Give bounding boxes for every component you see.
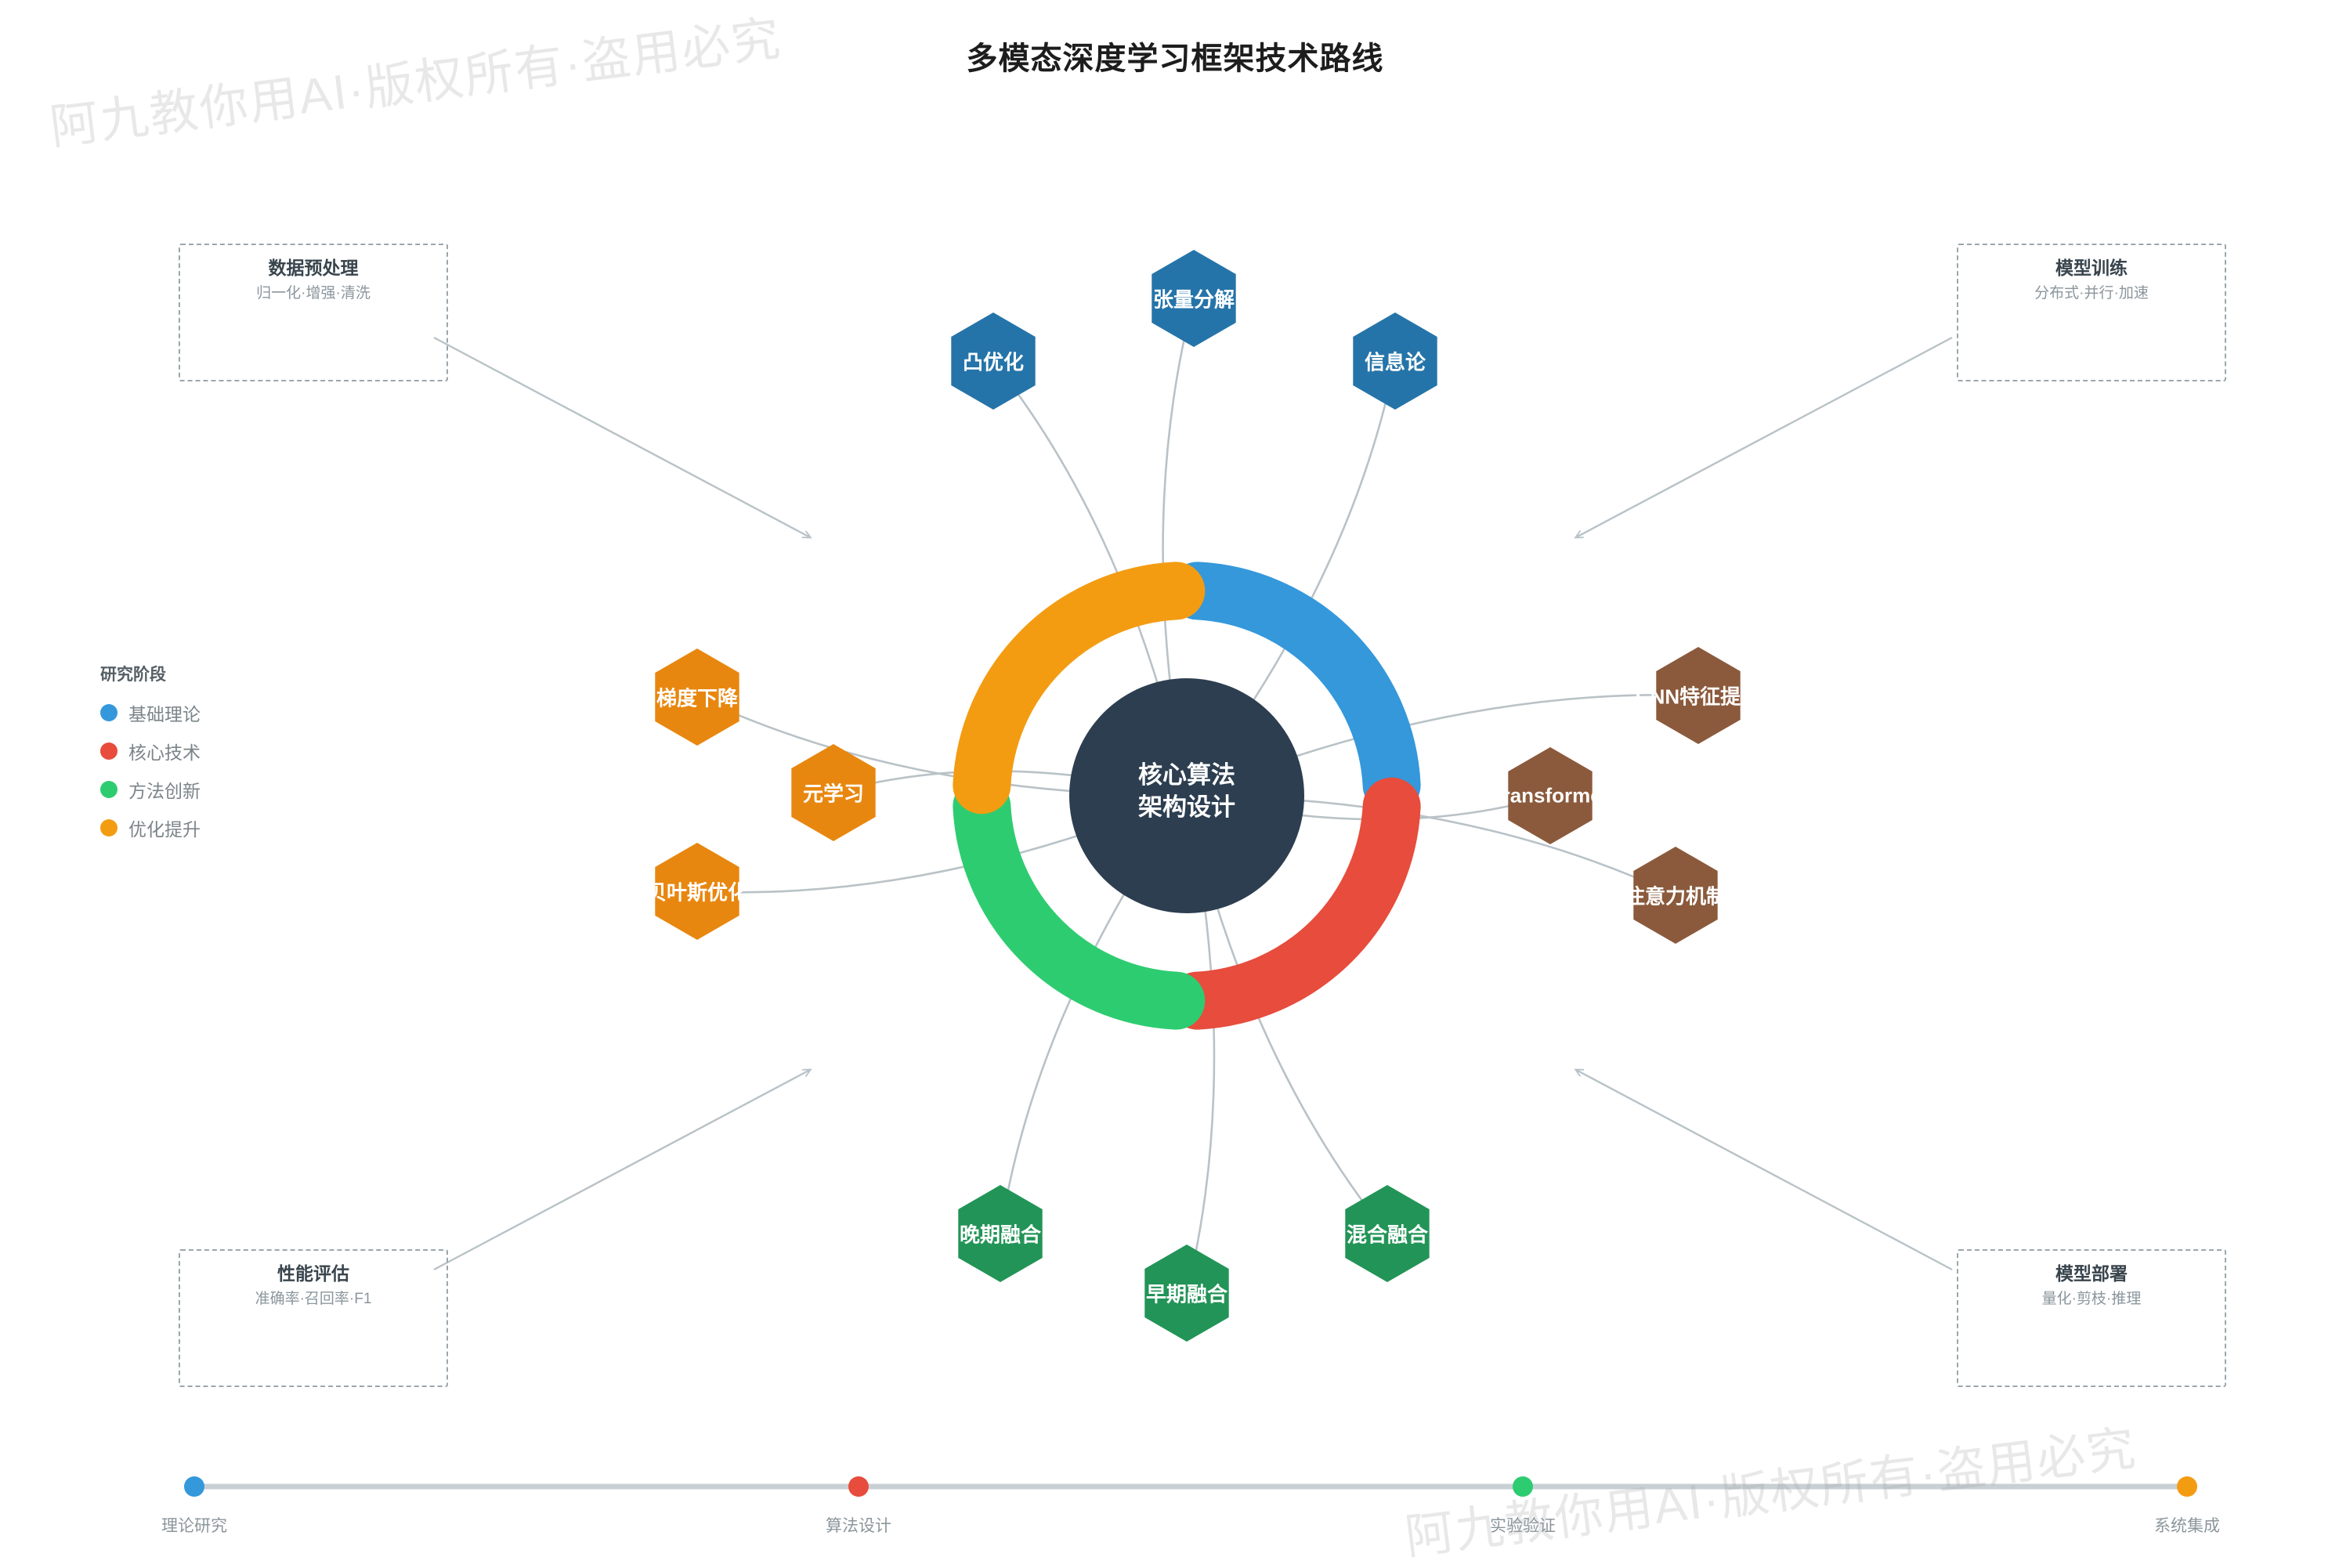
- legend-color-dot: [100, 704, 117, 721]
- legend-item[interactable]: 方法创新: [100, 776, 201, 803]
- timeline-milestone-dot[interactable]: [1513, 1476, 1533, 1497]
- timeline-milestone-dot[interactable]: [848, 1476, 869, 1497]
- legend-color-dot: [100, 819, 117, 836]
- annotation-arrow: [434, 1070, 810, 1270]
- timeline-milestone-dot[interactable]: [2177, 1476, 2197, 1497]
- annotation-subtitle: 量化·剪枝·推理: [1966, 1289, 2217, 1310]
- legend-color-dot: [100, 781, 117, 798]
- node-hexagon[interactable]: [1144, 1245, 1228, 1342]
- timeline-milestone-label: 算法设计: [826, 1513, 891, 1537]
- page-title: 多模态深度学习框架技术路线: [0, 33, 2350, 78]
- annotation-title: 模型训练: [1966, 256, 2217, 280]
- annotation-subtitle: 准确率·召回率·F1: [188, 1289, 439, 1310]
- timeline-milestone-label: 实验验证: [1490, 1513, 1556, 1537]
- node-hexagon[interactable]: [791, 744, 875, 841]
- node-hexagon[interactable]: [958, 1185, 1042, 1282]
- legend-item[interactable]: 基础理论: [100, 699, 201, 726]
- legend-item-label: 核心技术: [128, 738, 201, 764]
- legend-color-dot: [100, 742, 117, 760]
- legend: 研究阶段 基础理论核心技术方法创新优化提升: [100, 662, 201, 853]
- node-hexagon[interactable]: [1633, 847, 1717, 944]
- timeline-layer: [184, 1476, 2197, 1497]
- annotation-title: 性能评估: [188, 1262, 439, 1286]
- annotation-arrow: [1576, 1070, 1952, 1270]
- node-hexagon[interactable]: [1508, 747, 1592, 844]
- annotation-title: 模型部署: [1966, 1262, 2217, 1286]
- node-hexagon[interactable]: [1345, 1185, 1429, 1282]
- annotation-box[interactable]: 数据预处理归一化·增强·清洗: [179, 244, 448, 381]
- timeline-milestone-dot[interactable]: [184, 1476, 204, 1497]
- node-hexagon[interactable]: [655, 649, 739, 746]
- annotation-box[interactable]: 性能评估准确率·召回率·F1: [179, 1249, 448, 1387]
- annotation-subtitle: 分布式·并行·加速: [1966, 284, 2217, 305]
- node-hexagon[interactable]: [1656, 647, 1740, 744]
- annotation-arrow: [434, 338, 810, 537]
- legend-title: 研究阶段: [100, 662, 201, 685]
- diagram-canvas: 阿九教你用AI·版权所有·盗用必究 多模态深度学习框架技术路线 核心算法 架构设…: [0, 0, 2350, 1566]
- node-hexagon[interactable]: [1353, 313, 1437, 410]
- legend-item-label: 方法创新: [128, 776, 201, 803]
- annotation-arrow: [1576, 338, 1952, 537]
- hub-layer: [1069, 678, 1304, 913]
- timeline-milestone-label: 系统集成: [2154, 1513, 2220, 1537]
- legend-item[interactable]: 优化提升: [100, 815, 201, 841]
- legend-item[interactable]: 核心技术: [100, 738, 201, 764]
- node-hexagon[interactable]: [1151, 250, 1235, 347]
- node-hexagon[interactable]: [951, 313, 1035, 410]
- annotation-title: 数据预处理: [188, 256, 439, 280]
- hub-circle[interactable]: [1069, 678, 1304, 913]
- legend-item-label: 基础理论: [128, 699, 201, 726]
- node-hexagon[interactable]: [655, 843, 739, 940]
- legend-item-label: 优化提升: [128, 815, 201, 841]
- annotation-subtitle: 归一化·增强·清洗: [188, 284, 439, 305]
- annotation-box[interactable]: 模型部署量化·剪枝·推理: [1957, 1249, 2226, 1387]
- timeline-milestone-label: 理论研究: [161, 1513, 227, 1537]
- annotation-box[interactable]: 模型训练分布式·并行·加速: [1957, 244, 2226, 381]
